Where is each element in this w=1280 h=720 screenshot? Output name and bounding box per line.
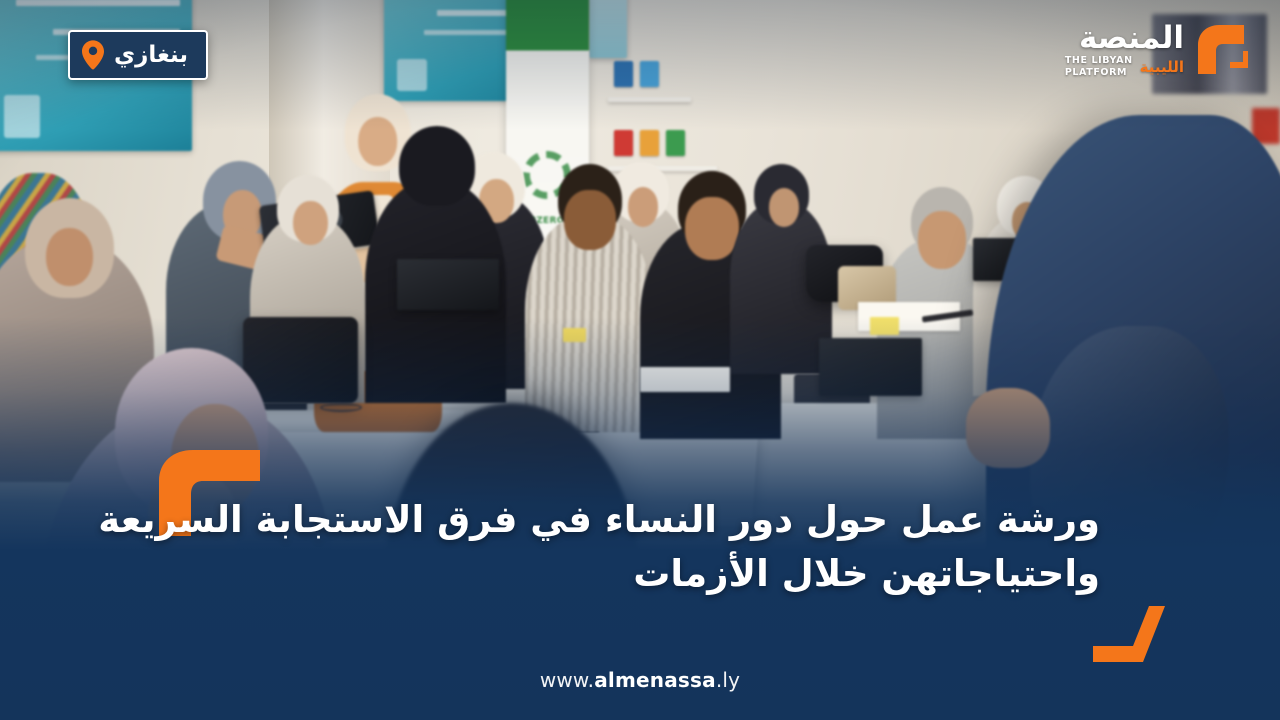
url-prefix: www. — [540, 668, 594, 692]
headline-line-2: واحتياجاتهن خلال الأزمات — [170, 547, 1100, 602]
almenassa-logo-mark-icon — [1190, 18, 1252, 80]
url-tld: .ly — [716, 668, 740, 692]
brand-logo[interactable]: المنصة THE LIBYAN PLATFORM الليبية — [1065, 18, 1252, 80]
headline: ورشة عمل حول دور النساء في فرق الاستجابة… — [170, 493, 1100, 603]
url-domain: almenassa — [594, 668, 716, 692]
logo-arabic-subtitle: الليبية — [1140, 60, 1184, 75]
logo-subtitle-row: THE LIBYAN PLATFORM الليبية — [1065, 55, 1184, 78]
location-pin-icon — [82, 40, 104, 70]
website-url[interactable]: www.almenassa.ly — [0, 668, 1280, 692]
logo-english-name: THE LIBYAN PLATFORM — [1065, 55, 1133, 78]
headline-line-1: ورشة عمل حول دور النساء في فرق الاستجابة… — [170, 493, 1100, 548]
news-card: 3ZERO ZeroZeroZero — [0, 0, 1280, 720]
logo-wordmark: المنصة THE LIBYAN PLATFORM الليبية — [1065, 18, 1184, 79]
logo-arabic-name: المنصة — [1079, 24, 1184, 53]
location-label: بنغازي — [114, 44, 188, 67]
location-badge[interactable]: بنغازي — [68, 30, 208, 80]
orange-check-mark-icon — [1093, 604, 1171, 662]
